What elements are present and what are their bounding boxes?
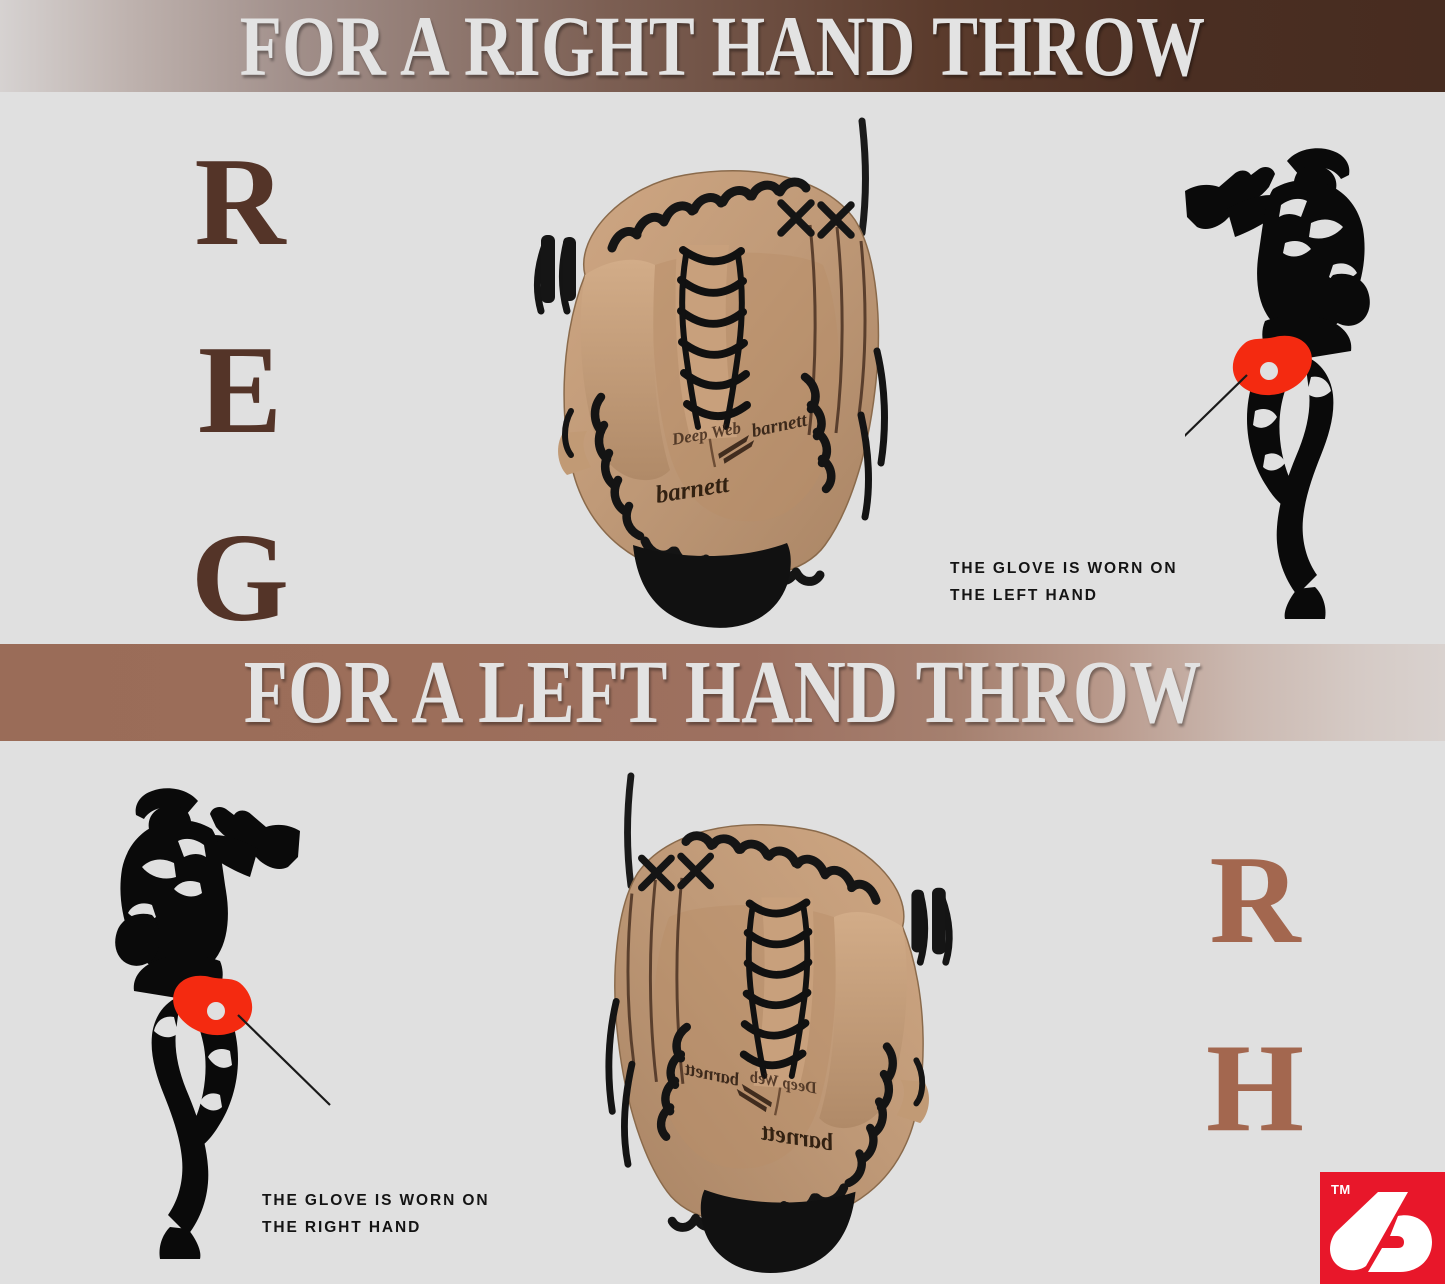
poster-canvas: FOR A RIGHT HAND THROW R E G [0, 0, 1445, 1284]
caption-glove-worn-left-hand: THE GLOVE IS WORN ON THE LEFT HAND [950, 556, 1250, 609]
letter-e: E [150, 328, 330, 454]
banner-right-hand-throw: FOR A RIGHT HAND THROW [0, 0, 1445, 92]
letter-h: H [1160, 1026, 1350, 1152]
banner-left-hand-throw-label: FOR A LEFT HAND THROW [244, 648, 1202, 738]
baseball-glove-left-hand-throw: Deep Web barnett barnett [575, 770, 985, 1280]
letter-r: R [1160, 838, 1350, 964]
barnett-logo-mark [1320, 1172, 1445, 1284]
letters-reg: R E G [150, 140, 330, 642]
pitcher-silhouette-right-hand-throw [1185, 125, 1415, 620]
baseball-glove-right-hand-throw: Deep Web barnett barnett [505, 115, 915, 635]
barnett-logo[interactable]: TM [1320, 1172, 1445, 1284]
letter-r: R [150, 140, 330, 266]
pitcher-silhouette-left-hand-throw [40, 765, 340, 1260]
letters-rh: R H [1160, 838, 1350, 1152]
banner-left-hand-throw: FOR A LEFT HAND THROW [0, 644, 1445, 741]
caption-glove-worn-right-hand: THE GLOVE IS WORN ON THE RIGHT HAND [262, 1188, 562, 1241]
letter-g: G [150, 516, 330, 642]
banner-right-hand-throw-label: FOR A RIGHT HAND THROW [240, 3, 1206, 89]
